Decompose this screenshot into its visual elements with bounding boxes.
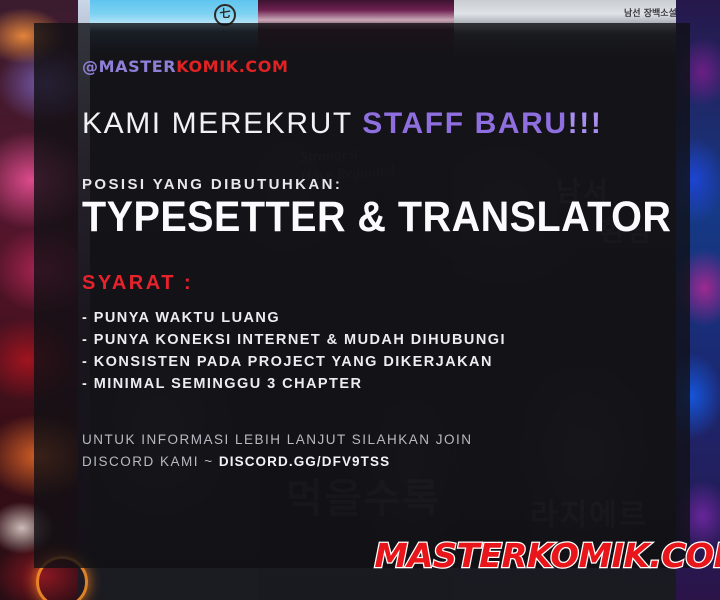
requirements-heading: SYARAT :: [82, 273, 690, 293]
site-watermark: MASTERKOMIK.COM: [374, 539, 720, 572]
list-item: - MINIMAL SEMINGGU 3 CHAPTER: [82, 373, 690, 395]
contact-info-line1: UNTUK INFORMASI LEBIH LANJUT SILAHKAN JO…: [82, 429, 690, 451]
headline-accent: STAFF BARU: [362, 107, 567, 140]
discord-invite-link[interactable]: DISCORD.GG/DFV9TSS: [219, 454, 390, 469]
page-title: KAMI MEREKRUT STAFF BARU!!!: [82, 109, 690, 139]
contact-info-prefix: DISCORD KAMI ~: [82, 454, 219, 469]
list-item: - PUNYA WAKTU LUANG: [82, 307, 690, 329]
promo-poster: 七 남선 장백소설 Strongest Have Regained 남서 환담 …: [0, 0, 720, 600]
contact-info-line2: DISCORD KAMI ~ DISCORD.GG/DFV9TSS: [82, 451, 690, 473]
headline-exclamations: !!!: [568, 107, 603, 140]
positions-label: POSISI YANG DIBUTUHKAN:: [82, 177, 690, 192]
brand-handle-name: @MASTER: [82, 57, 176, 76]
brand-handle-domain: KOMIK.COM: [176, 57, 288, 76]
brand-handle: @MASTERKOMIK.COM: [82, 59, 690, 75]
contact-info: UNTUK INFORMASI LEBIH LANJUT SILAHKAN JO…: [82, 429, 690, 473]
list-item: - PUNYA KONEKSI INTERNET & MUDAH DIHUBUN…: [82, 329, 690, 351]
content-card: @MASTERKOMIK.COM KAMI MEREKRUT STAFF BAR…: [34, 23, 690, 568]
requirements-list: - PUNYA WAKTU LUANG - PUNYA KONEKSI INTE…: [82, 307, 690, 395]
korean-caption-header: 남선 장백소설: [624, 6, 677, 19]
headline-lead: KAMI MEREKRUT: [82, 107, 362, 140]
list-item: - KONSISTEN PADA PROJECT YANG DIKERJAKAN: [82, 351, 690, 373]
positions-value: TYPESETTER & TRANSLATOR: [82, 196, 641, 239]
